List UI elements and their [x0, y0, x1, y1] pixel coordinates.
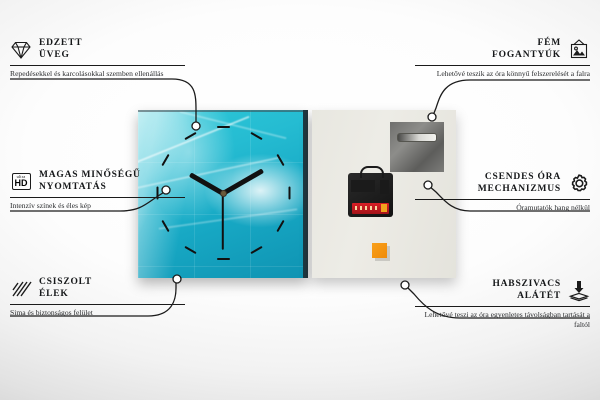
callout-rule: [10, 197, 185, 198]
callout-csiszolt-elek: CSISZOLTÉLEK Sima és biztonságos felület: [10, 277, 185, 318]
callout-rule: [415, 65, 590, 66]
battery-plus-terminal: [381, 204, 387, 212]
diamond-icon: [10, 39, 32, 61]
mechanism-seam: [380, 180, 389, 194]
gear-icon: [568, 173, 590, 195]
ultra-hd-large-text: HD: [15, 179, 28, 188]
callout-edzett-uveg: EDZETTÜVEG Repedésekkel és karcolásokkal…: [10, 38, 185, 79]
clock-center-hub: [220, 190, 227, 197]
callout-description: Repedésekkel és karcolásokkal szemben el…: [10, 69, 185, 79]
callout-habszivacs-alatet: HABSZIVACSALÁTÉT Lehetővé teszi az óra e…: [415, 279, 590, 330]
callout-title: CSISZOLTÉLEK: [39, 277, 92, 301]
clock-hour-marker: [217, 258, 230, 260]
callout-rule: [10, 65, 185, 66]
callout-csendes-ora-mechanizmus: CSENDES ÓRAMECHANIZMUS Óramutatók hang n…: [415, 172, 590, 213]
product-infographic: EDZETTÜVEG Repedésekkel és karcolásokkal…: [0, 0, 600, 400]
callout-title: FÉMFOGANTYÚK: [492, 38, 561, 62]
callout-header: ultra HD MAGAS MINŐSÉGŰNYOMTATÁS: [10, 170, 185, 194]
battery: [352, 203, 389, 214]
panel-top-edge: [138, 110, 308, 112]
panel-side-edge: [303, 110, 308, 278]
callout-title: HABSZIVACSALÁTÉT: [492, 279, 561, 303]
callout-rule: [10, 304, 185, 305]
battery-label: [355, 206, 377, 210]
ultra-hd-badge: ultra HD: [12, 173, 31, 190]
callout-description: Sima és biztonságos felület: [10, 308, 185, 318]
mechanism-hanging-loop: [360, 166, 384, 178]
ultra-hd-icon: ultra HD: [10, 171, 32, 193]
picture-hanger-icon: [568, 39, 590, 61]
polished-edges-icon: [10, 278, 32, 300]
callout-rule: [415, 199, 590, 200]
callout-fem-fogantyuk: FÉMFOGANTYÚK Lehetővé teszik az óra könn…: [415, 38, 590, 79]
callout-magas-minosegu-nyomtatas: ultra HD MAGAS MINŐSÉGŰNYOMTATÁS Intenzí…: [10, 170, 185, 211]
leader-dot-habszivacs: [401, 281, 409, 289]
clock-hour-marker: [217, 126, 230, 128]
callout-title: CSENDES ÓRAMECHANIZMUS: [478, 172, 561, 196]
callout-description: Intenzív színek és éles kép: [10, 201, 185, 211]
callout-header: EDZETTÜVEG: [10, 38, 185, 62]
callout-description: Lehetővé teszi az óra egyenletes távolsá…: [415, 310, 590, 331]
callout-description: Lehetővé teszik az óra könnyű felszerelé…: [415, 69, 590, 79]
callout-header: CSENDES ÓRAMECHANIZMUS: [415, 172, 590, 196]
press-pad-icon: [568, 280, 590, 302]
mechanism-seam: [351, 180, 375, 192]
callout-description: Óramutatók hang nélkül: [415, 203, 590, 213]
hanger-slot: [397, 133, 437, 142]
metal-hanger-plate: [390, 122, 444, 172]
clock-hour-marker: [288, 187, 290, 200]
callout-title: EDZETTÜVEG: [39, 38, 82, 62]
callout-header: HABSZIVACSALÁTÉT: [415, 279, 590, 303]
callout-rule: [415, 306, 590, 307]
clock-second-hand: [222, 193, 224, 250]
foam-pad: [372, 243, 387, 258]
callout-header: CSISZOLTÉLEK: [10, 277, 185, 301]
clock-mechanism: [348, 173, 393, 217]
callout-header: FÉMFOGANTYÚK: [415, 38, 590, 62]
product-image: [138, 110, 456, 280]
callout-title: MAGAS MINŐSÉGŰNYOMTATÁS: [39, 170, 141, 194]
